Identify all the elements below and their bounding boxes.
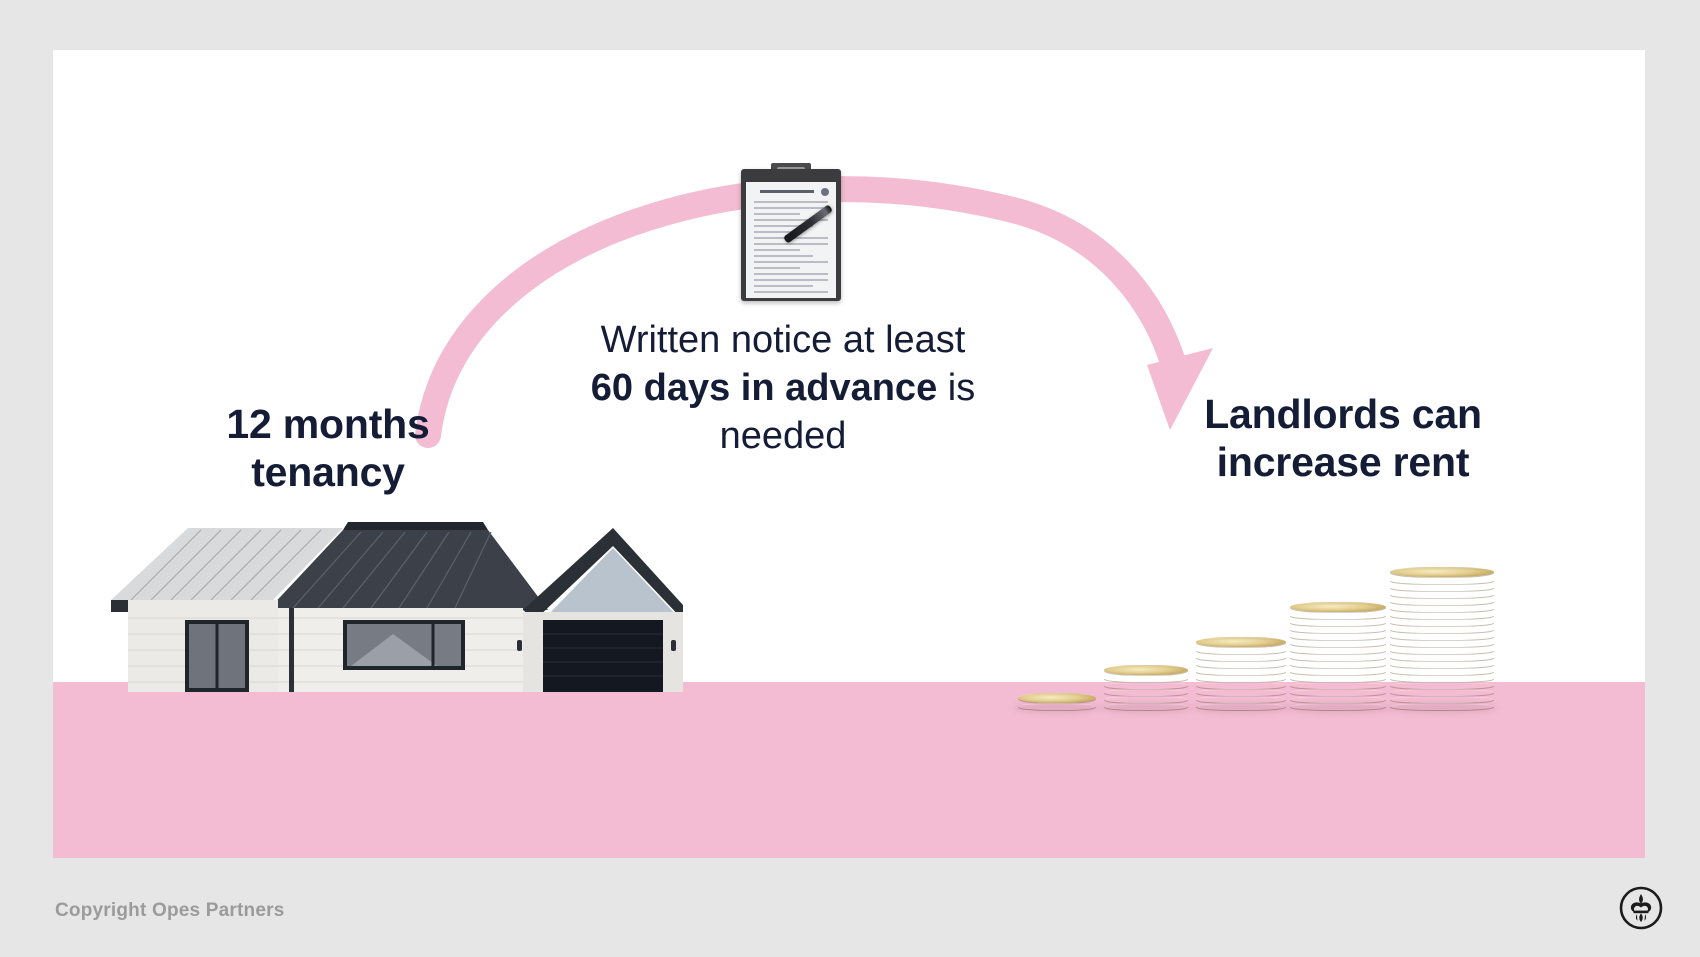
- clipboard-icon: [741, 163, 841, 301]
- coin: [1196, 696, 1286, 703]
- coin: [1196, 682, 1286, 689]
- clipboard-paper: [746, 182, 836, 298]
- coin-stack: [1290, 602, 1386, 710]
- slide-canvas: 12 months tenancy: [53, 50, 1645, 858]
- coin: [1290, 682, 1386, 689]
- coin: [1196, 654, 1286, 661]
- coin: [1196, 703, 1286, 710]
- fleur-de-lis-logo: [1619, 886, 1663, 930]
- coin: [1290, 612, 1386, 619]
- coin: [1390, 626, 1494, 633]
- right-heading-line2: increase rent: [1143, 438, 1543, 486]
- coin: [1390, 640, 1494, 647]
- coin: [1390, 696, 1494, 703]
- coin: [1390, 689, 1494, 696]
- coin: [1390, 591, 1494, 598]
- left-heading: 12 months tenancy: [163, 400, 493, 497]
- coin: [1390, 619, 1494, 626]
- coin: [1390, 584, 1494, 591]
- coin-stack: [1018, 693, 1096, 710]
- coin: [1390, 654, 1494, 661]
- coin: [1290, 602, 1386, 612]
- coin: [1290, 626, 1386, 633]
- coin: [1390, 612, 1494, 619]
- screenshot-viewport: 12 months tenancy: [0, 0, 1700, 957]
- left-heading-line2: tenancy: [163, 448, 493, 496]
- coin: [1390, 703, 1494, 710]
- coin: [1196, 668, 1286, 675]
- coin: [1196, 647, 1286, 654]
- copyright-text: Copyright Opes Partners: [55, 900, 284, 922]
- coin: [1104, 682, 1188, 689]
- coin: [1390, 668, 1494, 675]
- coin: [1290, 668, 1386, 675]
- coin: [1018, 693, 1096, 703]
- coin: [1390, 647, 1494, 654]
- coin: [1290, 689, 1386, 696]
- middle-text-line2-tail: is: [937, 367, 975, 409]
- coin: [1196, 637, 1286, 647]
- coin: [1290, 654, 1386, 661]
- coin: [1104, 665, 1188, 675]
- coin: [1104, 675, 1188, 682]
- coin-stack: [1104, 665, 1188, 710]
- coin: [1390, 661, 1494, 668]
- coin-stack: [1196, 637, 1286, 710]
- coin: [1290, 661, 1386, 668]
- coin: [1290, 640, 1386, 647]
- clipboard-board: [741, 169, 841, 301]
- coin: [1390, 682, 1494, 689]
- coin: [1290, 619, 1386, 626]
- coin-stack: [1390, 567, 1494, 710]
- coin: [1104, 689, 1188, 696]
- document-seal-icon: [821, 188, 829, 196]
- coin: [1390, 605, 1494, 612]
- middle-text-line1: Written notice at least: [601, 319, 966, 361]
- coin: [1196, 675, 1286, 682]
- middle-text-block: Written notice at least 60 days in advan…: [533, 317, 1033, 461]
- right-heading: Landlords can increase rent: [1143, 390, 1543, 487]
- coin: [1104, 696, 1188, 703]
- document-title-line: [760, 190, 814, 193]
- coin: [1290, 633, 1386, 640]
- coin: [1390, 567, 1494, 577]
- middle-text-emphasis: 60 days in advance: [591, 367, 937, 409]
- coin: [1390, 577, 1494, 584]
- middle-text-line3: needed: [720, 415, 847, 457]
- coin: [1390, 675, 1494, 682]
- coin: [1290, 696, 1386, 703]
- coin: [1290, 647, 1386, 654]
- coin: [1196, 689, 1286, 696]
- coin: [1196, 661, 1286, 668]
- right-heading-line1: Landlords can: [1143, 390, 1543, 438]
- coin: [1104, 703, 1188, 710]
- coin-stacks-illustration: [1018, 490, 1468, 710]
- coin: [1390, 598, 1494, 605]
- coin: [1390, 633, 1494, 640]
- coin: [1290, 675, 1386, 682]
- house-illustration: [93, 500, 683, 710]
- coin: [1290, 703, 1386, 710]
- coin: [1018, 703, 1096, 710]
- left-heading-line1: 12 months: [163, 400, 493, 448]
